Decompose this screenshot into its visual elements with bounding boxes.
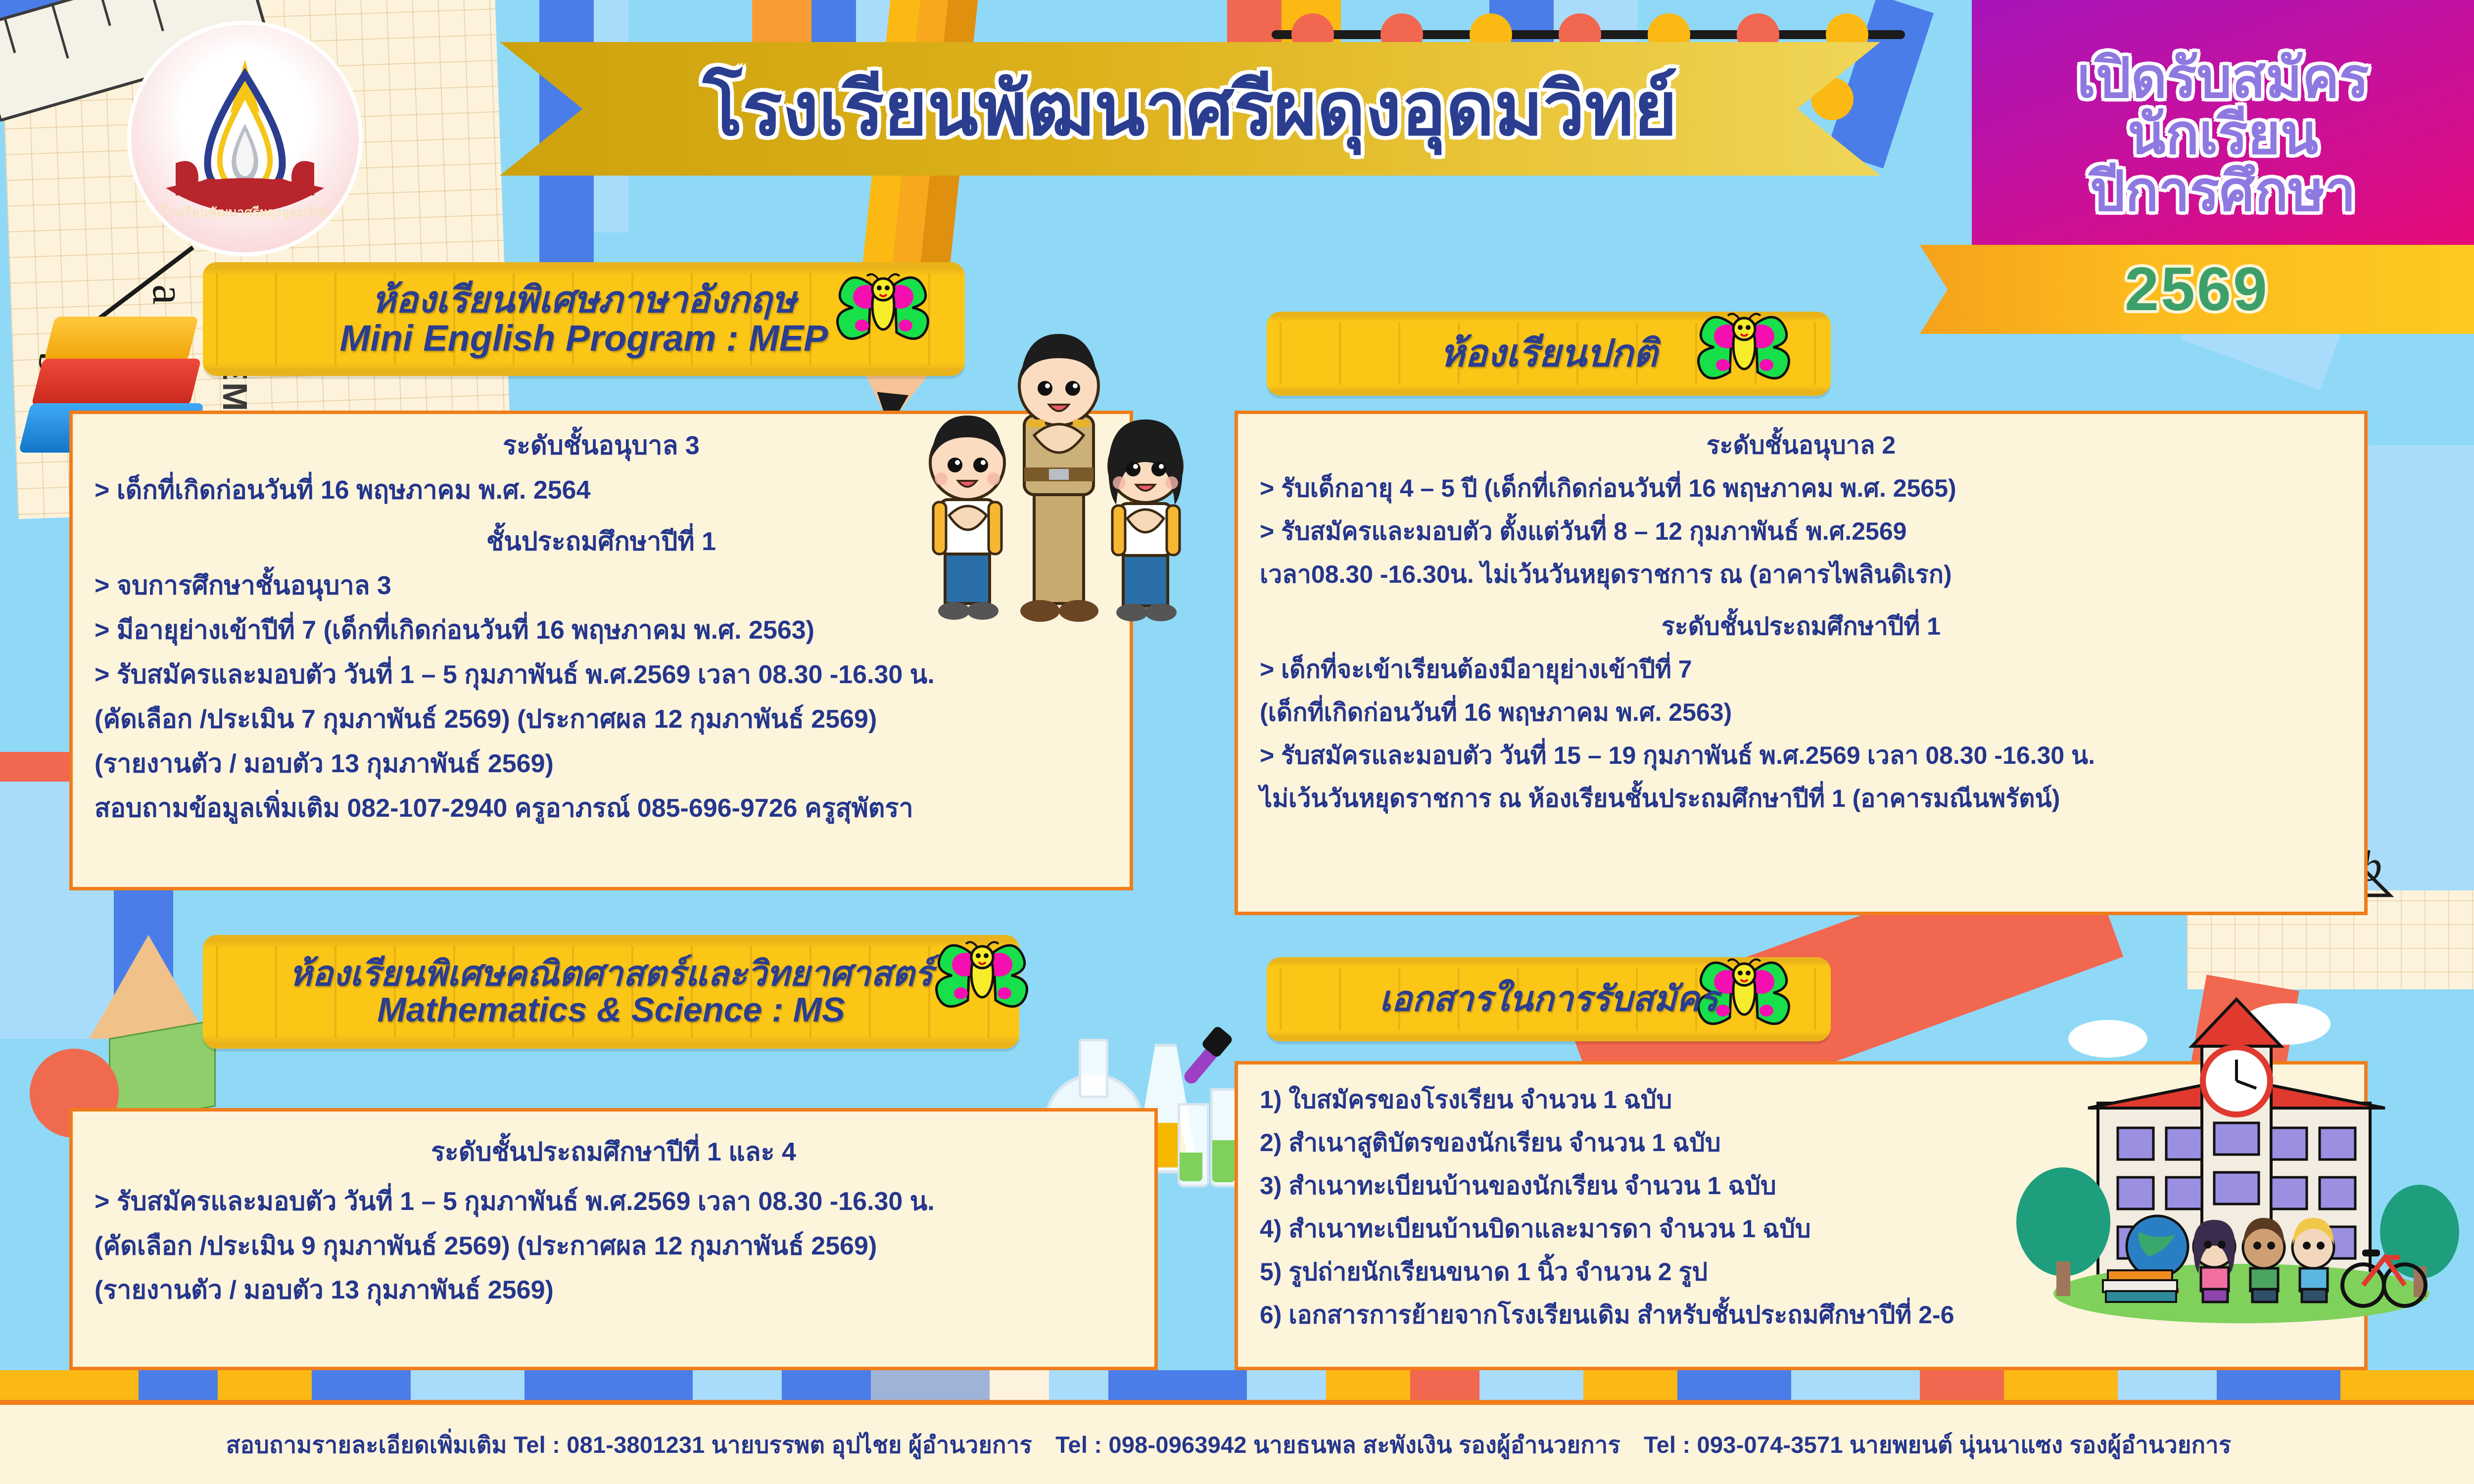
regular-header-thai: ห้องเรียนปกติ [1440, 334, 1658, 373]
regular-section-1-title: ระดับชั้นอนุบาล 2 [1260, 428, 2342, 463]
ms-header-english: Mathematics & Science : MS [377, 992, 845, 1028]
family-illustration [886, 292, 1227, 668]
footer-contact-3: Tel : 093-074-3571 นายพยนต์ นุ่นนาแซง รอ… [1644, 1432, 2231, 1458]
promo-line-3: ปีการศึกษา [2090, 163, 2356, 220]
mep-section-2-line-4: (คัดเลือก /ประเมิน 7 กุมภาพันธ์ 2569) (ป… [95, 701, 1108, 738]
title-banner: โรงเรียนพัฒนาศรีผดุงอุดมวิทย์ [500, 42, 1880, 176]
poster-root: a b STEM Z % b y [0, 0, 2474, 1484]
documents-header-thai: เอกสารในการรับสมัคร [1380, 981, 1718, 1018]
footer-contact-1: สอบถามรายละเอียดเพิ่มเติม Tel : 081-3801… [226, 1432, 1032, 1458]
regular-section-1-line-2: > รับสมัครและมอบตัว ตั้งแต่วันที่ 8 – 12… [1260, 514, 2342, 549]
ms-line-3: (รายงานตัว / มอบตัว 13 กุมภาพันธ์ 2569) [95, 1272, 1133, 1309]
page-title: โรงเรียนพัฒนาศรีผดุงอุดมวิทย์ [703, 50, 1677, 168]
mep-section-2-line-5: (รายงานตัว / มอบตัว 13 กุมภาพันธ์ 2569) [95, 746, 1108, 783]
regular-section-2-line-4: ไม่เว้นวันหยุดราชการ ณ ห้องเรียนชั้นประถ… [1260, 781, 2342, 816]
school-logo: โรงเรียนพัฒนาศรีผดุงอุดมวิทย์ [131, 25, 359, 252]
ms-card: ระดับชั้นประถมศึกษาปีที่ 1 และ 4 > รับสม… [69, 1108, 1158, 1370]
school-building-illustration [2009, 965, 2469, 1331]
regular-section-2-title: ระดับชั้นประถมศึกษาปีที่ 1 [1260, 609, 2342, 644]
regular-section-2-line-3: > รับสมัครและมอบตัว วันที่ 15 – 19 กุมภา… [1260, 738, 2342, 773]
footer-contact-2: Tel : 098-0963942 นายธนพล สะพังเงิน รองผ… [1055, 1432, 1620, 1458]
logo-caption: โรงเรียนพัฒนาศรีผดุงอุดมวิทย์ [160, 204, 329, 221]
regular-section-1-line-1: > รับเด็กอายุ 4 – 5 ปี (เด็กที่เกิดก่อนว… [1260, 471, 2342, 506]
mep-header-thai: ห้องเรียนพิเศษภาษาอังกฤษ [372, 280, 796, 319]
academic-year: 2569 [2125, 254, 2269, 325]
mep-header-english: Mini English Program : MEP [340, 319, 828, 358]
mep-contact-line: สอบถามข้อมูลเพิ่มเติม 082-107-2940 ครูอา… [95, 790, 1108, 827]
promo-line-2: นักเรียน [2128, 106, 2318, 163]
ms-section-title: ระดับชั้นประถมศึกษาปีที่ 1 และ 4 [95, 1134, 1133, 1171]
admission-promo-panel: เปิดรับสมัคร นักเรียน ปีการศึกษา [1972, 0, 2474, 255]
ms-header-thai: ห้องเรียนพิเศษคณิตศาสตร์และวิทยาศาสตร์ [289, 956, 933, 992]
promo-line-1: เปิดรับสมัคร [2077, 50, 2369, 106]
svg-text:a: a [143, 284, 194, 305]
ms-header-pill: ห้องเรียนพิเศษคณิตศาสตร์และวิทยาศาสตร์ M… [203, 935, 1019, 1049]
promo-year-ribbon: 2569 [1920, 245, 2474, 334]
regular-section-2-line-2: (เด็กที่เกิดก่อนวันที่ 16 พฤษภาคม พ.ศ. 2… [1260, 695, 2342, 730]
regular-section-2-line-1: > เด็กที่จะเข้าเรียนต้องมีอายุย่างเข้าปี… [1260, 652, 2342, 687]
regular-section-1-line-3: เวลา08.30 -16.30น. ไม่เว้นวันหยุดราชการ … [1260, 557, 2342, 592]
butterfly-icon-regular [1697, 307, 1791, 391]
butterfly-icon-ms [935, 935, 1029, 1019]
ms-line-2: (คัดเลือก /ประเมิน 9 กุมภาพันธ์ 2569) (ป… [95, 1228, 1133, 1265]
footer-contact-bar: สอบถามรายละเอียดเพิ่มเติม Tel : 081-3801… [0, 1400, 2474, 1484]
ms-line-1: > รับสมัครและมอบตัว วันที่ 1 – 5 กุมภาพั… [95, 1184, 1133, 1220]
regular-card: ระดับชั้นอนุบาล 2 > รับเด็กอายุ 4 – 5 ปี… [1235, 411, 2368, 915]
